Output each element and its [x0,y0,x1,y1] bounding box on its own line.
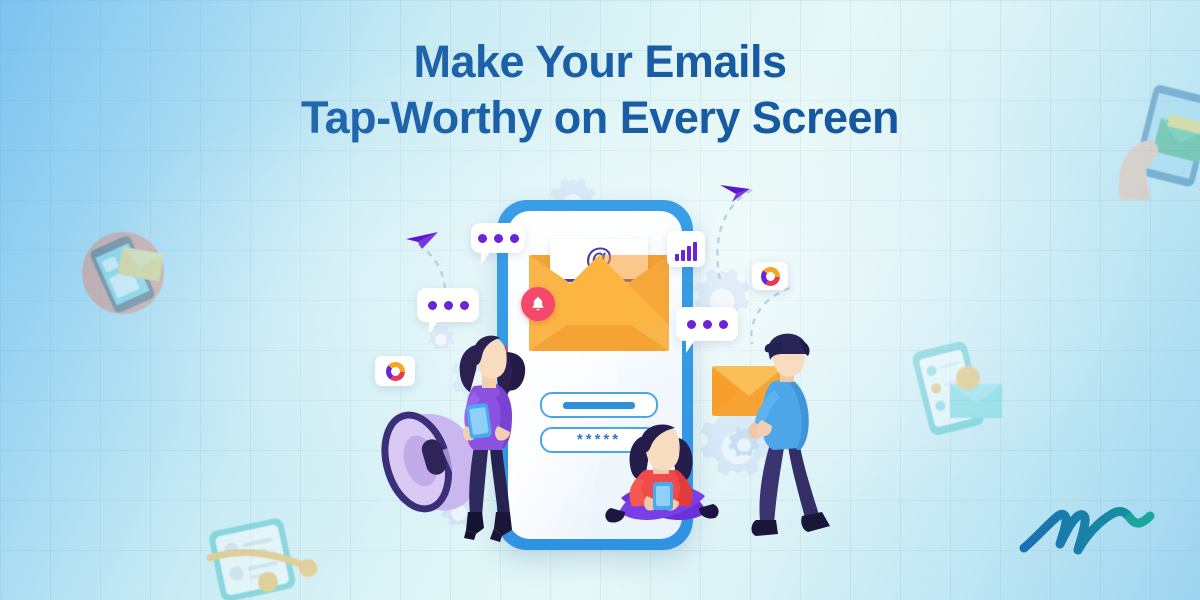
bar-chart-card [667,231,705,267]
headline-line-1: Make Your Emails [0,34,1200,90]
chat-bubble-right [676,307,738,341]
phone-list-envelope [898,330,1010,442]
paper-plane-right [718,182,752,204]
chat-bubble-left [417,288,479,322]
email-envelope: @ [529,235,669,370]
donut-chart-card-right [752,262,788,290]
phone-envelope-circle-left [68,218,178,328]
donut-chart-icon [761,267,780,286]
dot-icon [460,301,469,310]
document-arrow-card [196,512,326,600]
woman-standing-with-phone [440,330,536,550]
woman-sitting-with-phone [601,420,725,546]
dot-icon [719,320,728,329]
donut-chart-icon [386,362,405,381]
headline-line-2: Tap-Worthy on Every Screen [0,90,1200,146]
dot-icon [494,234,503,243]
dot-icon [478,234,487,243]
donut-chart-card-left [375,356,415,386]
page-title: Make Your Emails Tap-Worthy on Every Scr… [0,34,1200,146]
dot-icon [510,234,519,243]
bell-icon [521,287,555,321]
dot-icon [428,301,437,310]
mw-logo[interactable] [1018,502,1158,564]
dot-icon [687,320,696,329]
chat-bubble-top [471,223,525,253]
man-carrying-envelope [742,332,850,550]
email-marketing-banner: Make Your Emails Tap-Worthy on Every Scr… [0,0,1200,600]
username-input[interactable] [540,392,658,418]
dot-icon [703,320,712,329]
paper-plane-left [404,228,440,252]
dot-icon [444,301,453,310]
